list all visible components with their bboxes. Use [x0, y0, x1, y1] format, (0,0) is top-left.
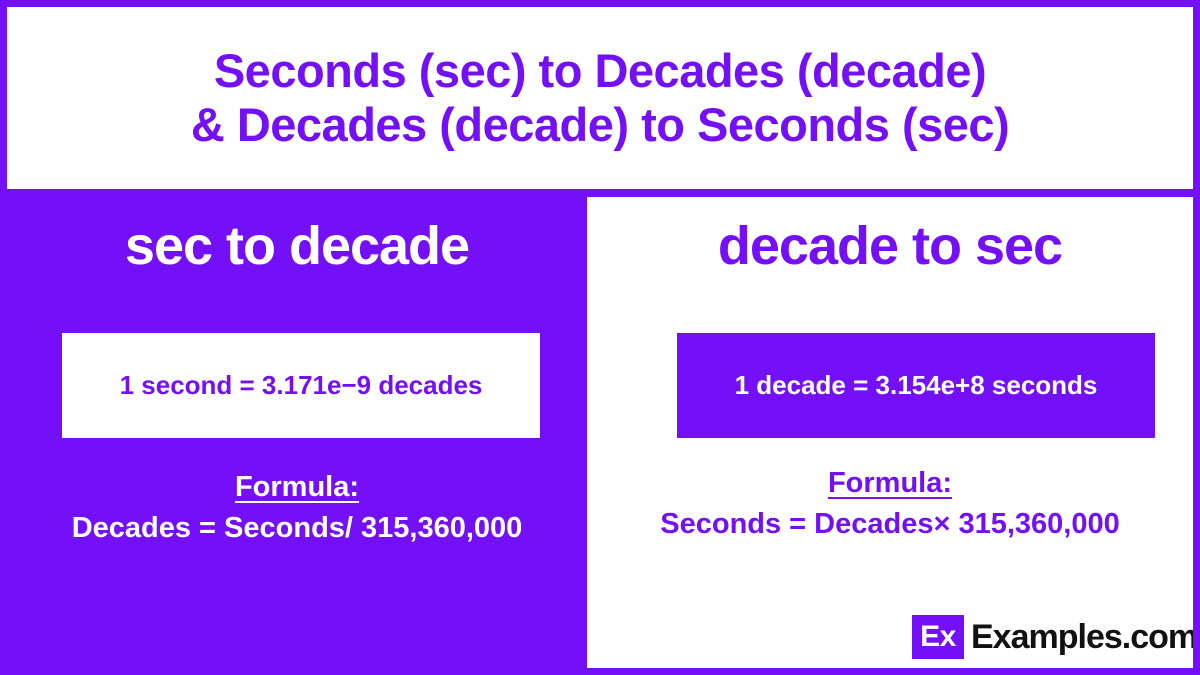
panel-left-formula-label: Formula:	[235, 469, 359, 507]
panel-right-formula-body: Seconds = Decades× 315,360,000	[587, 505, 1193, 544]
examples-logo-mark-icon: Ex	[912, 615, 964, 659]
panel-decade-to-sec: decade to sec 1 decade = 3.154e+8 second…	[587, 197, 1193, 668]
examples-logo-text: Examples.com	[971, 620, 1197, 654]
panel-left-formula: Formula: Decades = Seconds/ 315,360,000	[7, 469, 587, 548]
header-divider-strip	[7, 189, 1193, 197]
panel-left-formula-body: Decades = Seconds/ 315,360,000	[7, 509, 587, 548]
panel-right-formula-label: Formula:	[828, 465, 952, 503]
panel-left-conversion-text: 1 second = 3.171e−9 decades	[120, 369, 483, 402]
title-block: Seconds (sec) to Decades (decade) & Deca…	[7, 7, 1193, 189]
panel-right-conversion-box: 1 decade = 3.154e+8 seconds	[677, 333, 1155, 438]
panel-right-heading: decade to sec	[587, 219, 1193, 273]
panel-right-conversion-text: 1 decade = 3.154e+8 seconds	[735, 369, 1098, 402]
panel-right-formula: Formula: Seconds = Decades× 315,360,000	[587, 465, 1193, 544]
page-title-line-2: & Decades (decade) to Seconds (sec)	[191, 98, 1009, 152]
infographic-page: Seconds (sec) to Decades (decade) & Deca…	[0, 0, 1200, 675]
panel-sec-to-decade: sec to decade 1 second = 3.171e−9 decade…	[7, 197, 587, 668]
panel-left-conversion-box: 1 second = 3.171e−9 decades	[62, 333, 540, 438]
page-title-line-1: Seconds (sec) to Decades (decade)	[214, 44, 986, 98]
examples-logo[interactable]: Ex Examples.com	[912, 615, 1197, 659]
panel-left-heading: sec to decade	[7, 219, 587, 273]
